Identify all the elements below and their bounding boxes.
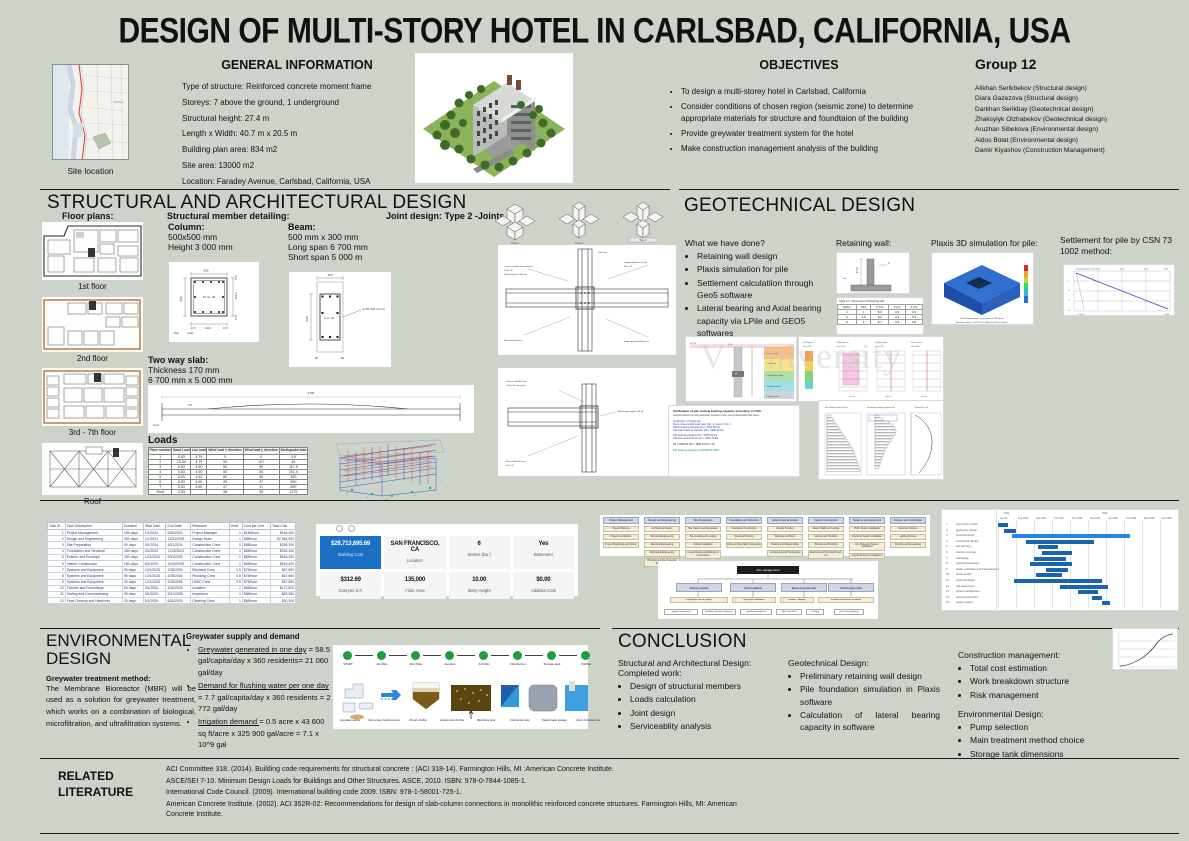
settlement-label: Settlement for pile by CSN 73 1002 metho… (1060, 235, 1182, 258)
retaining-wall-table: Table 4-1: Parameters of Retaining wall … (836, 297, 924, 335)
structural-3d-model: z4z3z2 z1yx (322, 438, 478, 500)
wbs-item: Utilities Installation (685, 542, 721, 549)
cost-card: $28,713,695.69Building Cost (320, 536, 381, 569)
flow-arrow-icon (423, 655, 441, 656)
gantt-task-name: create tender (956, 573, 971, 576)
flow-step-icon (479, 651, 488, 660)
svg-text:Carlsbad: Carlsbad (113, 100, 124, 104)
wbs-item: Architectural Design (644, 526, 680, 533)
wbs-column-head: Exterior and Envelope (767, 517, 803, 524)
literature-heading-1: RELATED (58, 768, 168, 784)
gantt-month: Aug-2024 (1018, 517, 1028, 520)
svg-text:Maximum value = 4.279*10-3 m (: Maximum value = 4.279*10-3 m (Element 24… (956, 321, 1008, 324)
wbs-column-head: Project Management (603, 517, 639, 524)
gantt-bar (1004, 529, 1016, 533)
svg-text:4000: 4000 (1164, 269, 1168, 271)
wbs-column: Exterior and EnvelopeExterior FinishesWi… (767, 517, 803, 557)
wbs-column: Site PreparationSite Clearing and Excava… (685, 517, 721, 559)
svg-text:404.2: 404.2 (205, 327, 212, 330)
slab-elevation-drawing: 6700 170 Level (148, 385, 474, 433)
gantt-task-name: permit presentation (956, 596, 978, 599)
column-label: Column: (168, 222, 268, 232)
gantt-task-name: construction design (956, 540, 978, 543)
page-title: DESIGN OF MULTI-STORY HOTEL IN CARLSBAD,… (0, 12, 1189, 52)
site-location-map: Carlsbad (52, 64, 129, 160)
loads-col: Live load (191, 448, 207, 455)
gantt-bar (1026, 540, 1094, 544)
group-member: Zhaksylyk Olzhabekov (Geotechnical desig… (975, 115, 1180, 124)
objectives-block: OBJECTIVES To design a multi-storey hote… (668, 58, 930, 158)
wbs-item: Windows and Doors (767, 534, 803, 541)
gantt-row-id: 2 (946, 529, 947, 532)
gantt-row-id: 5 (946, 545, 947, 548)
gantt-row-id: 15 (946, 601, 949, 604)
refresh-icon[interactable] (336, 525, 343, 532)
svg-text:Column 500x500 mm: Column 500x500 mm (506, 381, 527, 383)
loads-table: Floor number Dead Load Live load Wind lo… (148, 447, 308, 495)
gantt-bar (1092, 596, 1102, 600)
gantt-gridline (1160, 520, 1161, 608)
column-line: Height 3 000 mm (168, 242, 268, 252)
svg-text:170: 170 (188, 404, 193, 407)
conclusion-item: Pump selection (970, 721, 1118, 733)
loads-col: Wind load y direction (243, 448, 279, 455)
verification-title: Verification of pile vertical bearing ca… (673, 409, 795, 413)
conclusion-col-cm: Construction management: Total cost esti… (958, 650, 1118, 761)
cost-card-label: Cost per S.F. (322, 588, 379, 593)
svg-text:10 No. 36: 10 No. 36 (504, 270, 514, 272)
verification-line: Pile base bearing capacity Rb = 4200.39 … (673, 429, 795, 432)
group-member: Diara Gazezova (Structural design) (975, 94, 1180, 103)
gantt-task-name: geotechnical design (956, 562, 979, 565)
svg-text:z3: z3 (366, 497, 369, 499)
svg-text:Shear Force: Shear Force (911, 342, 923, 344)
svg-text:1. sandy clay: 1. sandy clay (766, 353, 778, 355)
cost-card-label: Stories (Ea.) (451, 552, 508, 557)
column-spec: Column: 500x500 mm Height 3 000 mm (168, 222, 268, 252)
svg-text:20: 20 (1068, 310, 1070, 312)
conclusion-heading: CONCLUSION (618, 631, 747, 653)
flow-step-label: FINISH (571, 662, 601, 666)
literature-entry: ASCE/SEI 7-10. Minimum Design Loads for … (166, 777, 766, 788)
flow-step-label: Aeration (435, 662, 465, 666)
greywater-method-text: The Membrane Bioreactor (MBR) will be us… (46, 683, 196, 730)
gantt-bar (1046, 568, 1068, 572)
svg-text:50: 50 (315, 356, 319, 360)
cost-card-value: 10.00 (451, 577, 508, 583)
wbs-item: Restroom Fixtures (890, 526, 926, 533)
conclusion-item: Risk management (970, 689, 1118, 701)
general-info-line: Location: Faradey Avenue, Carlsbad, Cali… (182, 177, 412, 188)
wbs-column: Foundation and StructureFoundation Const… (726, 517, 762, 548)
poster-root: DESIGN OF MULTI-STORY HOTEL IN CARLSBAD,… (0, 0, 1189, 841)
geotech-what-item: Lateral bearing and Axial bearing capaci… (697, 302, 833, 339)
schedule-col: Units (229, 523, 242, 530)
loads-col: Dead Load (172, 448, 191, 455)
floor-plan-roof (42, 443, 143, 495)
cost-card-label: Floor Area (386, 588, 443, 593)
gantt-bar (1078, 590, 1098, 594)
environmental-block: ENVIRONMENTAL DESIGN Greywater treatment… (46, 632, 196, 729)
gantt-row-id: 12 (946, 585, 949, 588)
conclusion-col1-title-2: Completed work: (618, 668, 786, 678)
wbs-column: Project ManagementProject PlanningProjec… (603, 517, 639, 548)
wbs-column-head: Systems and Equipment (849, 517, 885, 524)
svg-text:47.9: 47.9 (223, 327, 228, 330)
conclusion-col2-title: Geotechnical Design: (788, 658, 940, 668)
schedule-cell: 6/30/2026 (166, 598, 191, 604)
conclusion-col3-list: Total cost estimation Work breakdown str… (958, 662, 1118, 701)
flow-step-label: 3rd Filter (469, 662, 499, 666)
wbs-item: Electrical System Installation (849, 553, 885, 560)
beam-line: 500 mm x 300 mm (288, 232, 398, 242)
gantt-month: Mar-2025 (1144, 517, 1154, 520)
wbs-item: Project Planning (603, 526, 639, 533)
svg-text:Rod: Rod (174, 331, 179, 335)
gantt-divider (996, 510, 997, 610)
svg-text:Displacement: Displacement (875, 341, 888, 344)
geotech-what-item: Settlement calculatiion through Geo5 sof… (697, 277, 833, 302)
supply-item: Greywater generated in one day = 58.5 ga… (198, 644, 332, 678)
wbs-item: Interior Walls and Ceilings (808, 526, 844, 533)
svg-text:Type 1: Type 1 (511, 241, 519, 244)
loads-table-header-row: Floor number Dead Load Live load Wind lo… (149, 448, 308, 455)
floor-plans-label: Floor plans: (62, 211, 114, 221)
loads-col: Wind load x direction (207, 448, 243, 455)
divider-mid (40, 500, 1179, 501)
wbs-column-head: Fixtures and Furnishings (890, 517, 926, 524)
gantt-chart: 20242025Jan-24Aug-2024Sep-2024Oct-2024No… (941, 509, 1179, 611)
gantt-bar (1012, 534, 1130, 538)
divider-environmental (40, 628, 600, 629)
svg-text:10 No. 36 vertical bars: 10 No. 36 vertical bars (506, 384, 526, 387)
schedule-col: Resource (191, 523, 229, 530)
loads-cell: 3.83 (172, 489, 191, 494)
conclusion-col1-title-1: Structural and Architectural Design: (618, 658, 786, 668)
svg-text:Soil Layers: Soil Layers (803, 342, 813, 344)
verification-line: Ultimate vertical force Vd = 1566.34 kN (673, 437, 795, 440)
group-member: Alikhan Serikbekov (Structural design) (975, 84, 1180, 93)
slab-label: Two way slab: (148, 355, 288, 365)
cost-card: $312.69Cost per S.F. (320, 572, 381, 599)
wbs-column-head: Foundation and Structure (726, 517, 762, 524)
svg-text:6700: 6700 (308, 391, 315, 395)
conclusion-item: Calculation of lateral bearing capacity … (800, 709, 940, 734)
conclusion-item: Pile foundation simulation in Plaxis sof… (800, 683, 940, 708)
flow-arrow-icon (525, 655, 543, 656)
wbs-column: Design and EngineeringArchitectural Desi… (644, 517, 680, 567)
general-info-line: Type of structure: Reinforced concrete m… (182, 82, 412, 93)
svg-text:z1: z1 (414, 495, 417, 497)
wbs-item: Foundation Construction (726, 526, 762, 533)
gantt-row-id: 14 (946, 596, 949, 599)
rw-cell: 0.5 (889, 319, 906, 324)
schedule-cell: 30 days (123, 598, 144, 604)
general-info-line: Length x Width: 40.7 m x 20.5 m (182, 129, 412, 140)
literature-heading-2: LITERATURE (58, 784, 168, 800)
gantt-gridline (1106, 520, 1107, 608)
gantt-bar (1038, 545, 1058, 549)
loads-cell: 1275 (279, 489, 307, 494)
schedule-cell: $20,300 (271, 598, 296, 604)
svg-text:10 no. 36: 10 no. 36 (203, 295, 216, 299)
supply-item-underline: Greywater generated in one day (198, 645, 307, 654)
wbs-column: Interior ConstructionInterior Walls and … (808, 517, 844, 559)
gantt-row-id: 4 (946, 540, 947, 543)
wbs-item: Structural Framing (726, 534, 762, 541)
wbs-item: Plumbing System Installation (849, 534, 885, 541)
schedule-cell: $68/hour (242, 598, 270, 604)
schedule-cell: Cleaning Crew (191, 598, 229, 604)
conclusion-item: Total cost estimation (970, 662, 1118, 674)
svg-text:z2: z2 (386, 499, 389, 500)
svg-text:s [mm]: s [mm] (1078, 314, 1084, 316)
supply-item-underline: Demand for flushing water per one day (198, 681, 329, 690)
wbs-column-head: Interior Construction (808, 517, 844, 524)
svg-text:6 no. 32: 6 no. 32 (324, 316, 335, 320)
schedule-cell: Final Cleanup and Handover (65, 598, 122, 604)
floor-plan-1 (42, 222, 143, 280)
member-detailing-label: Structural member detailing: (167, 211, 290, 221)
general-information-block: GENERAL INFORMATION Type of structure: R… (182, 58, 412, 193)
wbs-item: Landscaping and Hardscaping (767, 550, 803, 557)
loads-col: Earthquake load (279, 448, 307, 455)
conclusion-item: Preliminary retaining wall design (800, 670, 940, 682)
group-member: Aidos Bolat (Environmental design) (975, 136, 1180, 145)
gantt-gridline (1178, 520, 1179, 608)
svg-text:Q [kN]: Q [kN] (1164, 314, 1170, 316)
beam-line: Short span 5 000 m (288, 252, 398, 262)
conclusion-col4-list: Pump selection Main treatment method cho… (958, 721, 1118, 760)
svg-text:3. silty/clayey sand: 3. silty/clayey sand (766, 374, 783, 377)
wbs-columns: Project ManagementProject PlanningProjec… (600, 515, 930, 556)
svg-text:404.2: 404.2 (234, 292, 238, 299)
supply-item-underline: Irrigation demand (198, 717, 259, 726)
flow-step-icon (445, 651, 454, 660)
gantt-task-name: structural design (956, 579, 975, 582)
retaining-table-grid: Name Size H (m) b (m) a (m) 118.00.50.52… (837, 304, 923, 325)
svg-text:Column reinforcement details: Column reinforcement details (504, 265, 533, 268)
literature-entry: American Concrete Institute. (2002). ACI… (166, 800, 766, 821)
group-member: Aruzhan Sibekova (Environmental design) (975, 125, 1180, 134)
flow-arrow-icon (355, 655, 373, 656)
svg-text:2. silty clay: 2. silty clay (766, 362, 776, 365)
svg-text:Type 2: Type 2 (575, 241, 583, 244)
svg-text:15: 15 (1068, 300, 1070, 302)
retaining-table-body: 118.00.50.521.58.00.50.5328.70.50.8 (838, 309, 923, 324)
schedule-header-row: Task IDTask DescriptionDurationStart Dat… (48, 523, 296, 530)
table-row: Roof3.8338351275 (149, 489, 308, 494)
flow-step-icon (513, 651, 522, 660)
svg-text:1000: 1000 (1096, 269, 1100, 271)
joint-3d-icons: Type 1 Type 2 Type 3 (487, 198, 677, 244)
gantt-row-id: 10 (946, 573, 949, 576)
wbs-item: Structural Engineering (644, 534, 680, 541)
related-literature-list: ACI Committee 318. (2014). Building code… (166, 765, 766, 822)
cost-estimation-cards: $28,713,695.69Building CostSAN FRANCISCO… (316, 524, 578, 596)
greywater-supply-label: Greywater supply and demand (186, 632, 332, 641)
objective-item: Consider conditions of chosen region (se… (681, 101, 930, 125)
geotech-what-item: Plaxis simulation for pile (697, 263, 833, 275)
svg-text:x: x (440, 481, 441, 483)
wbs-item: Flooring and Tile Work (808, 534, 844, 541)
conclusion-col-structural: Structural and Architectural Design: Com… (618, 658, 786, 733)
beam-spec: Beam: 500 mm x 300 mm Long span 6 700 mm… (288, 222, 398, 262)
gantt-task-name: risk assessment (956, 585, 975, 588)
conclusion-col4-title: Environmental Design: (958, 709, 1118, 719)
slab-spec: Two way slab: Thickness 170 mm 6 700 mm … (148, 355, 288, 385)
cost-card-value: 135,000 (386, 577, 443, 583)
svg-text:pile: pile (735, 373, 738, 375)
plaxis-label: Plaxis 3D simulation for pile: (931, 238, 1038, 248)
gantt-row-id: 9 (946, 568, 947, 571)
gantt-bar (1034, 557, 1066, 561)
literature-entry: International Code Council. (2009). Inte… (166, 788, 766, 799)
wbs-column-head: Site Preparation (685, 517, 721, 524)
wbs-item: Site Clearing and Excavation (685, 526, 721, 533)
conclusion-item: Design of structural members (630, 680, 786, 692)
gantt-gridline (1088, 520, 1089, 608)
group-member: Damir Kiyashov (Construction Management) (975, 146, 1180, 155)
loads-table-body: 15.834.79005.5210.004.79501074535.834.60… (149, 454, 308, 494)
svg-text:max = 8.5E3: max = 8.5E3 (911, 346, 920, 348)
loads-cell (191, 489, 207, 494)
conclusion-col-geotech: Geotechnical Design: Preliminary retaini… (788, 658, 940, 735)
retaining-wall-label: Retaining wall: (836, 238, 891, 248)
gantt-bar (998, 523, 1008, 527)
svg-text:Deflection, m: Deflection, m (837, 341, 849, 344)
svg-text:47.9: 47.9 (235, 275, 238, 280)
objective-item: To design a multi-storey hotel in Carlsb… (681, 86, 930, 98)
wbs-item: Roofing and Waterproofing (767, 542, 803, 549)
wbs-item: Lighting Fixtures (890, 534, 926, 541)
conclusion-item: Loads calculation (630, 693, 786, 705)
verification-result: Pile bearing capacity is SATISFACTORY (673, 449, 795, 452)
loads-cell: Roof (149, 489, 172, 494)
svg-text:47.9: 47.9 (191, 327, 196, 330)
lpile-output-charts: Soil LayersDeflection, mDisplacementShea… (798, 336, 944, 402)
wbs-item: Fire Protection System Installation (849, 542, 885, 551)
gantt-task-name: tender evaluation and final evaluation (956, 568, 999, 571)
svg-text:Shear Force, kN: Shear Force, kN (915, 407, 929, 409)
schedule-table-body: 1Project Management180 days1/1/20246/30/… (48, 530, 296, 604)
cost-card-value: SAN FRANCISCO, CA (386, 541, 443, 553)
gantt-row-id: 6 (946, 551, 947, 554)
schedule-col: End Date (166, 523, 191, 530)
conclusion-item: Serviceablity analysis (630, 720, 786, 732)
cost-card-value: $0.00 (515, 577, 572, 583)
svg-text:Total displacements |u| (scale: Total displacements |u| (scaled up 100 t… (960, 317, 1004, 320)
settlement-chart: Load-settlement curve 1000200030004000 5… (1063, 264, 1175, 316)
svg-text:GL 0.0: GL 0.0 (690, 343, 697, 345)
floor-plan-1-caption: 1st floor (42, 282, 143, 291)
cost-card-label: Location (386, 558, 443, 563)
gantt-row-id: 3 (946, 534, 947, 537)
gantt-month: Apr-2025 (1162, 517, 1172, 520)
wbs-item: Access Roads and Parking Lot Constructio… (685, 550, 721, 559)
environmental-heading-2: DESIGN (46, 650, 196, 668)
svg-text:Pile bearing capacity (ultimat: Pile bearing capacity (ultimate) kN (867, 406, 895, 409)
verification-line: Rc = 6655.51 kN > 1566.34 kN = Vd (673, 443, 795, 446)
gantt-task-name: project management (956, 590, 980, 593)
greywater-supply-block: Greywater supply and demand Greywater ge… (186, 632, 332, 751)
loads-col: Floor number (149, 448, 172, 455)
schedule-col: Total Cost (271, 523, 296, 530)
svg-text:Beam 500x300 mm: Beam 500x300 mm (506, 461, 525, 463)
gantt-gridline (1142, 520, 1143, 608)
svg-text:8.0 m: 8.0 m (856, 267, 859, 273)
svg-text:Hoop spacing 300 mm c/c: Hoop spacing 300 mm c/c (624, 341, 650, 343)
wbs-item: Electrical Engineering (644, 542, 680, 549)
joint-detail-cross: Column reinforcement details 10 No. 36 S… (498, 245, 676, 355)
gantt-task-name: community of work (956, 523, 978, 526)
svg-text:y: y (434, 489, 435, 491)
cost-card-value: 6 (451, 541, 508, 547)
cost-card: 10.00Story Height (449, 572, 510, 599)
floor-plan-2 (42, 297, 143, 352)
geotech-what-label: What we have done? (685, 238, 833, 248)
geotech-what-item: Retaining wall design (697, 250, 833, 262)
plaxis-3d-image: Total displacements |u| (scaled up 100 t… (931, 252, 1034, 325)
slab-line: 6 700 mm x 5 000 mm (148, 375, 288, 385)
svg-text:6 No. 32: 6 No. 32 (624, 266, 632, 268)
gantt-bar (1030, 562, 1072, 566)
schedule-col: Task Description (65, 523, 122, 530)
gantt-row-id: 8 (946, 562, 947, 565)
construction-schedule-table: Task IDTask DescriptionDurationStart Dat… (46, 521, 297, 605)
svg-text:500: 500 (305, 316, 309, 321)
objective-item: Make construction management analysis of… (681, 143, 930, 155)
gantt-month: Feb-2025 (1126, 517, 1136, 520)
group-member: Darkhan Serikbay (Geotechnical design) (975, 105, 1180, 114)
supply-item: Irrigation demand = 0.5 acre x 43 600 sq… (198, 716, 332, 750)
svg-text:max = 1.1E4: max = 1.1E4 (875, 346, 884, 348)
environmental-heading-1: ENVIRONMENTAL (46, 632, 196, 650)
group-block: Group 12 Alikhan Serikbekov (Structural … (975, 56, 1180, 157)
gantt-row-id: 13 (946, 590, 949, 593)
retaining-wall-drawing: 8.0 m b a soil (836, 252, 910, 294)
beam-line: Long span 6 700 mm (288, 242, 398, 252)
gantt-year: 2024 (1004, 512, 1009, 515)
wbs-item: Exterior Finishes (767, 526, 803, 533)
general-info-line: Site area: 13000 m2 (182, 161, 412, 172)
conclusion-item: Joint design (630, 707, 786, 719)
gantt-row-id: 1 (946, 523, 947, 526)
gantt-month: Nov-2024 (1072, 517, 1082, 520)
gantt-month: Sep-2024 (1036, 517, 1046, 520)
gantt-bar (1060, 585, 1108, 589)
svg-text:3000: 3000 (1144, 269, 1148, 271)
retaining-table-title: Table 4-1: Parameters of Retaining wall (837, 298, 923, 303)
site-location-caption: Site location (52, 166, 129, 176)
svg-text:500: 500 (203, 269, 208, 273)
pile-verification-box: Verification of pile vertical bearing ca… (668, 405, 800, 477)
gantt-task-name: site planning (956, 545, 971, 548)
cost-card-label: Story Height (451, 588, 508, 593)
gantt-gridline (998, 520, 999, 608)
general-info-line: Structural height: 27.4 m (182, 114, 412, 125)
svg-text:Joint core: Joint core (598, 251, 608, 254)
objectives-list: To design a multi-storey hotel in Carlsb… (668, 86, 930, 155)
gantt-task-name: structural works (956, 534, 974, 537)
wbs-column: Systems and EquipmentHVAC System Install… (849, 517, 885, 559)
divider-conclusion (612, 628, 1179, 629)
flow-step-icon (377, 651, 386, 660)
info-icon[interactable] (348, 525, 355, 532)
svg-text:Level: Level (187, 331, 194, 335)
gantt-row-id: 7 (946, 557, 947, 560)
flow-arrow-icon (559, 655, 577, 656)
